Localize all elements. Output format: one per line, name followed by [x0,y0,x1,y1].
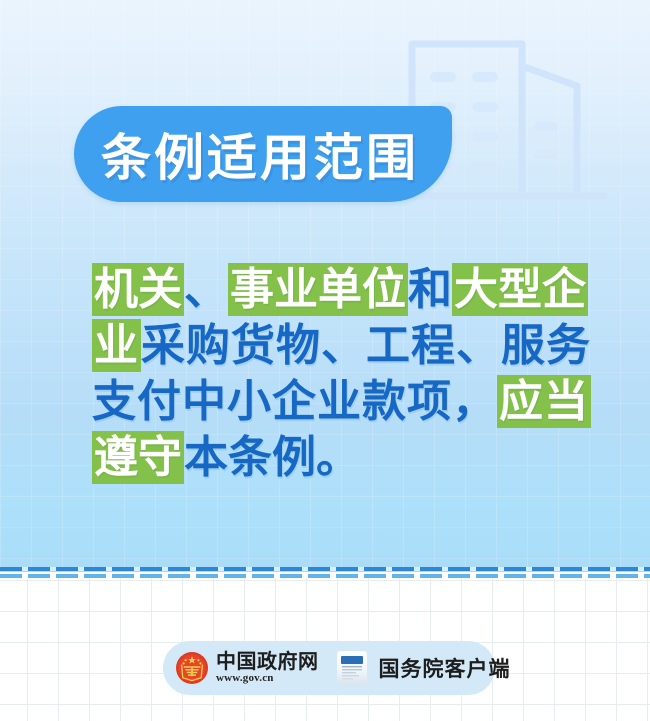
plain-phrase: 支付中小企业款项， [92,376,497,427]
highlight-phrase: 业 [92,319,141,372]
title-banner: 条例适用范围 [74,106,452,202]
plain-phrase: 采购货物、工程、服务 [141,320,591,371]
highlight-phrase: 机关 [92,263,184,316]
poster-card: 条例适用范围 机关、事业单位和大型企 业采购货物、工程、服务 支付中小企业款项，… [0,0,650,721]
body-text: 机关、事业单位和大型企 业采购货物、工程、服务 支付中小企业款项，应当 遵守本条… [92,262,584,486]
state-council-app-name: 国务院客户端 [379,653,511,683]
body-line-1: 机关、事业单位和大型企 [92,262,584,318]
highlight-phrase: 遵守 [92,431,184,484]
highlight-phrase: 应当 [497,375,591,428]
plain-phrase: 、 [184,264,228,315]
gov-site-name: 中国政府网 [216,651,319,672]
gov-site-url: www.gov.cn [216,672,319,685]
highlight-phrase: 大型企 [452,263,588,316]
state-council-app-icon [337,651,367,685]
body-line-4: 遵守本条例。 [92,430,584,486]
body-line-2: 业采购货物、工程、服务 [92,318,584,374]
divider-dashed-top [0,567,650,571]
national-emblem-icon [175,651,209,685]
page-title: 条例适用范围 [74,106,452,202]
gov-site-block: 中国政府网 www.gov.cn [216,651,319,685]
plain-phrase: 和 [408,264,452,315]
footer-bar: 中国政府网 www.gov.cn [163,641,495,695]
body-line-3: 支付中小企业款项，应当 [92,374,584,430]
plain-phrase: 本条例。 [184,432,360,483]
sky-panel: 条例适用范围 机关、事业单位和大型企 业采购货物、工程、服务 支付中小企业款项，… [0,0,650,572]
highlight-phrase: 事业单位 [228,263,408,316]
